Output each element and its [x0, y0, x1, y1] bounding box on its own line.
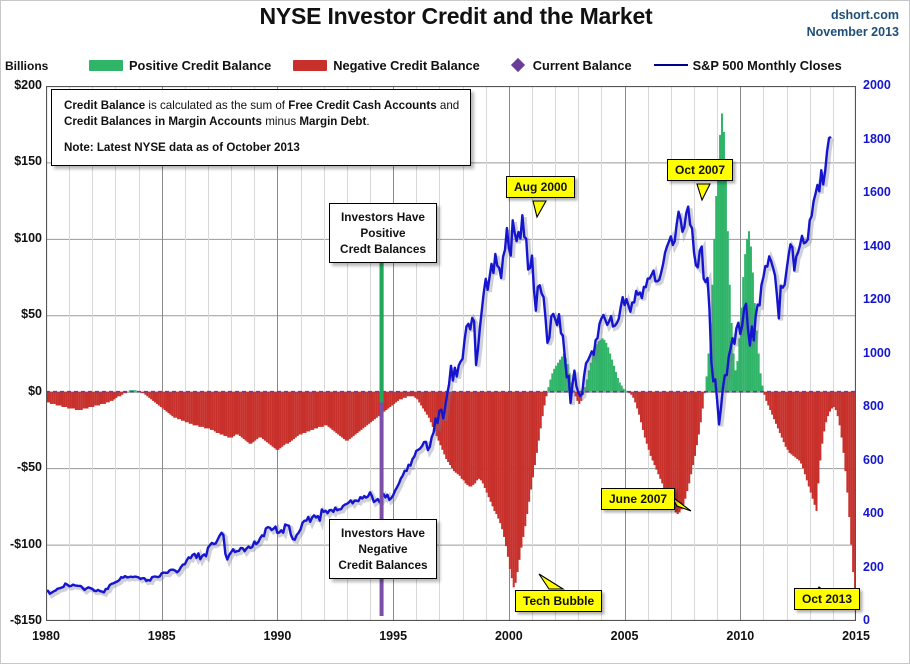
- attribution-date: November 2013: [807, 24, 899, 41]
- annotation-line: Credit Balances: [336, 557, 430, 573]
- info-text: .: [366, 115, 369, 128]
- x-axis-tick: 2015: [826, 629, 886, 643]
- info-term-credit-balance: Credit Balance: [64, 99, 145, 112]
- callout-june-2007: June 2007: [601, 488, 675, 510]
- annotation-line: Positive: [336, 225, 430, 241]
- callout-oct-2013: Oct 2013: [794, 588, 860, 610]
- x-axis-tick: 1990: [247, 629, 307, 643]
- x-axis-tick: 2010: [710, 629, 770, 643]
- right-axis-tick: 1400: [863, 239, 903, 253]
- legend-item-current-balance: Current Balance: [502, 58, 632, 73]
- red-swatch-icon: [293, 60, 327, 71]
- left-axis-tick: $200: [1, 78, 42, 92]
- green-swatch-icon: [89, 60, 123, 71]
- legend-item-positive-credit-balance: Positive Credit Balance: [89, 58, 271, 73]
- info-box: Credit Balance is calculated as the sum …: [51, 89, 471, 166]
- page-title: NYSE Investor Credit and the Market: [1, 3, 910, 30]
- annotation-line: Negative: [336, 541, 430, 557]
- x-axis-tick: 1995: [363, 629, 423, 643]
- purple-diamond-icon: [511, 58, 525, 72]
- legend-label: Current Balance: [533, 58, 632, 73]
- left-axis-unit-label: Billions: [5, 59, 48, 73]
- right-axis-tick: 1200: [863, 292, 903, 306]
- info-box-note: Note: Latest NYSE data as of October 201…: [64, 140, 460, 156]
- right-axis-tick: 1600: [863, 185, 903, 199]
- legend-item-negative-credit-balance: Negative Credit Balance: [293, 58, 480, 73]
- left-axis-tick: $100: [1, 231, 42, 245]
- x-axis-tick: 2005: [595, 629, 655, 643]
- info-text: minus: [262, 115, 299, 128]
- attribution-site: dshort.com: [807, 7, 899, 24]
- annotation-negative-credit: Investors Have Negative Credit Balances: [329, 519, 437, 579]
- x-axis-tick: 1985: [132, 629, 192, 643]
- info-box-text: Credit Balance is calculated as the sum …: [64, 98, 460, 130]
- left-axis-tick: -$150: [1, 613, 42, 627]
- legend-item-sp500: S&P 500 Monthly Closes: [654, 58, 842, 73]
- legend-label: Positive Credit Balance: [129, 58, 271, 73]
- chart-canvas: [46, 86, 856, 621]
- legend-label: Negative Credit Balance: [333, 58, 480, 73]
- right-axis-tick: 400: [863, 506, 903, 520]
- callout-oct-2007: Oct 2007: [667, 159, 733, 181]
- x-axis-tick: 1980: [16, 629, 76, 643]
- info-term-credit-balances-margin: Credit Balances in Margin Accounts: [64, 115, 262, 128]
- blue-line-icon: [654, 64, 688, 66]
- callout-tech-bubble: Tech Bubble: [515, 590, 602, 612]
- chart-root: NYSE Investor Credit and the Market dsho…: [0, 0, 910, 664]
- x-axis-tick: 2000: [479, 629, 539, 643]
- left-axis-tick: $150: [1, 154, 42, 168]
- left-axis-tick: $50: [1, 307, 42, 321]
- annotation-line: Investors Have: [336, 525, 430, 541]
- annotation-line: Investors Have: [336, 209, 430, 225]
- right-axis-tick: 1800: [863, 132, 903, 146]
- chart-legend: Positive Credit Balance Negative Credit …: [89, 55, 864, 75]
- info-term-margin-debt: Margin Debt: [299, 115, 366, 128]
- callout-aug-2000: Aug 2000: [506, 176, 575, 198]
- info-term-free-credit: Free Credit Cash Accounts: [288, 99, 436, 112]
- plot-area: [46, 86, 856, 621]
- left-axis-tick: -$100: [1, 537, 42, 551]
- right-axis-tick: 200: [863, 560, 903, 574]
- annotation-line: Credt Balances: [336, 241, 430, 257]
- right-axis-tick: 0: [863, 613, 903, 627]
- attribution: dshort.com November 2013: [807, 7, 899, 41]
- left-axis-tick: -$50: [1, 460, 42, 474]
- annotation-positive-credit: Investors Have Positive Credt Balances: [329, 203, 437, 263]
- info-text: and: [440, 99, 459, 112]
- right-axis-tick: 600: [863, 453, 903, 467]
- left-axis-tick: $0: [1, 384, 42, 398]
- right-axis-tick: 1000: [863, 346, 903, 360]
- info-text: is calculated as the sum of: [145, 99, 288, 112]
- legend-label: S&P 500 Monthly Closes: [693, 58, 842, 73]
- right-axis-tick: 800: [863, 399, 903, 413]
- right-axis-tick: 2000: [863, 78, 903, 92]
